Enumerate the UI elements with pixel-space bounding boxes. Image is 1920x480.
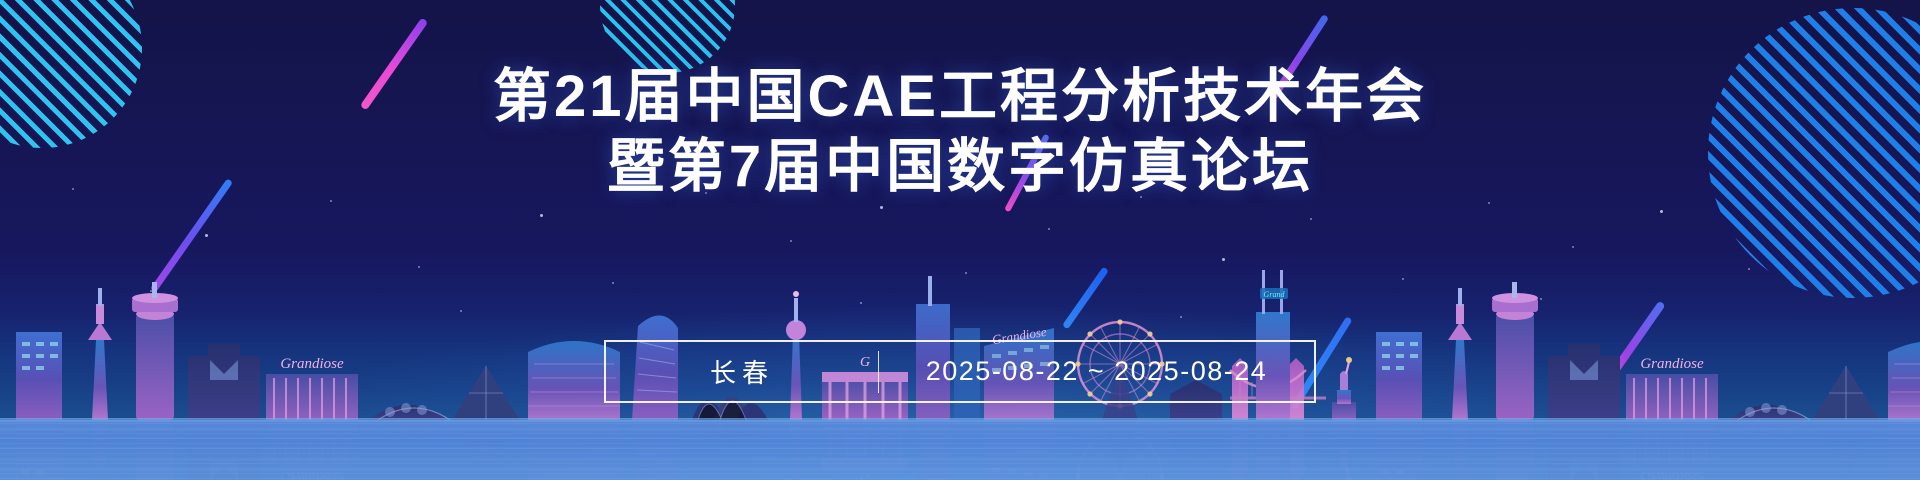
event-date-range: 2025-08-22 ~ 2025-08-24 bbox=[879, 356, 1314, 387]
event-city: 长春 bbox=[606, 353, 878, 390]
title-line-2: 暨第7届中国数字仿真论坛 bbox=[0, 132, 1920, 202]
conference-banner: Grand bbox=[0, 0, 1920, 480]
title-line-1: 第21届中国CAE工程分析技术年会 bbox=[0, 62, 1920, 132]
event-info-box: 长春 2025-08-22 ~ 2025-08-24 bbox=[604, 340, 1316, 403]
banner-title: 第21届中国CAE工程分析技术年会 暨第7届中国数字仿真论坛 bbox=[0, 62, 1920, 202]
